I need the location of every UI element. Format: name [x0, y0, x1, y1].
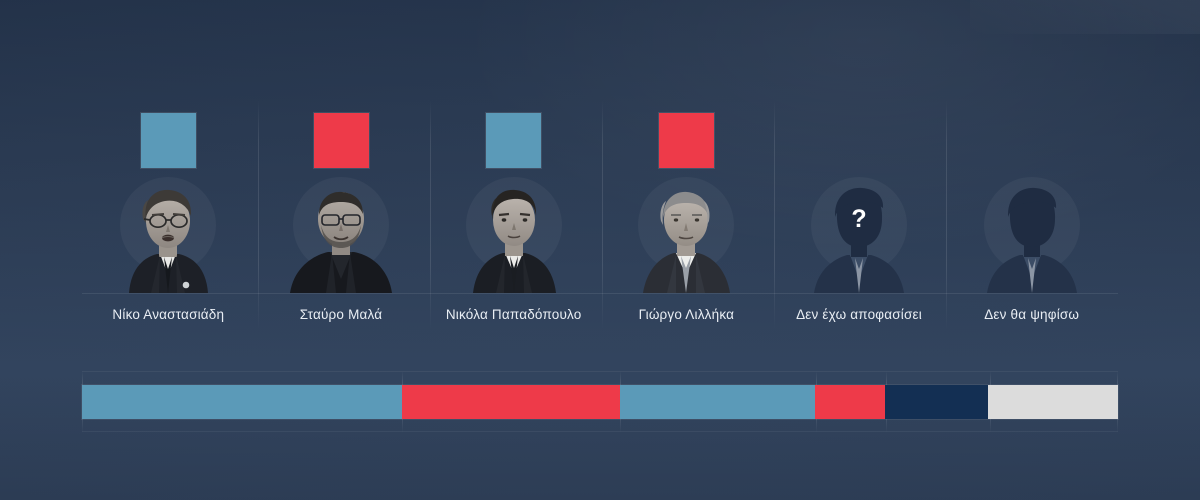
stacked-result-bar[interactable] — [82, 385, 1118, 419]
color-swatch — [141, 113, 196, 168]
bar-bottom-guide — [82, 431, 1118, 432]
user-silhouette-icon — [971, 175, 1093, 293]
bar-segment-5[interactable] — [885, 385, 989, 419]
candidate-label: Γιώργο Λιλλήκα — [600, 307, 773, 322]
candidate-label: Σταύρο Μαλά — [255, 307, 428, 322]
candidate-portrait — [971, 175, 1093, 293]
candidate-label: Νίκο Αναστασιάδη — [82, 307, 255, 322]
bar-segment-2[interactable] — [402, 385, 620, 419]
candidate-column-6[interactable]: Δεν θα ψηφίσω — [945, 0, 1118, 340]
candidate-portrait — [107, 175, 229, 293]
bar-segment-6[interactable] — [988, 385, 1118, 419]
candidate-portrait — [453, 175, 575, 293]
candidate-label: Δεν θα ψηφίσω — [945, 307, 1118, 322]
color-swatch — [659, 113, 714, 168]
svg-text:?: ? — [851, 205, 866, 233]
candidate-label: Δεν έχω αποφασίσει — [773, 307, 946, 322]
bar-segment-1[interactable] — [82, 385, 402, 419]
color-swatch — [314, 113, 369, 168]
bar-segment-4[interactable] — [815, 385, 884, 419]
candidate-column-1[interactable]: Νίκο Αναστασιάδη — [82, 0, 255, 340]
bar-top-guide — [82, 371, 1118, 372]
candidate-column-4[interactable]: Γιώργο Λιλλήκα — [600, 0, 773, 340]
candidate-column-5[interactable]: ? Δεν έχω αποφασίσει — [773, 0, 946, 340]
chart-frame: Νίκο Αναστασιάδη — [0, 0, 1200, 500]
candidate-portrait — [625, 175, 747, 293]
portrait-photo — [107, 175, 229, 293]
candidate-column-3[interactable]: Νικόλα Παπαδόπουλο — [427, 0, 600, 340]
candidate-columns: Νίκο Αναστασιάδη — [82, 0, 1118, 340]
bar-segment-3[interactable] — [620, 385, 816, 419]
candidate-column-2[interactable]: Σταύρο Μαλά — [255, 0, 428, 340]
portrait-photo — [625, 175, 747, 293]
candidate-portrait: ? — [798, 175, 920, 293]
candidate-label: Νικόλα Παπαδόπουλο — [427, 307, 600, 322]
candidate-portrait — [280, 175, 402, 293]
portrait-photo — [453, 175, 575, 293]
portrait-photo — [280, 175, 402, 293]
color-swatch — [486, 113, 541, 168]
user-silhouette-question-icon: ? — [798, 175, 920, 293]
